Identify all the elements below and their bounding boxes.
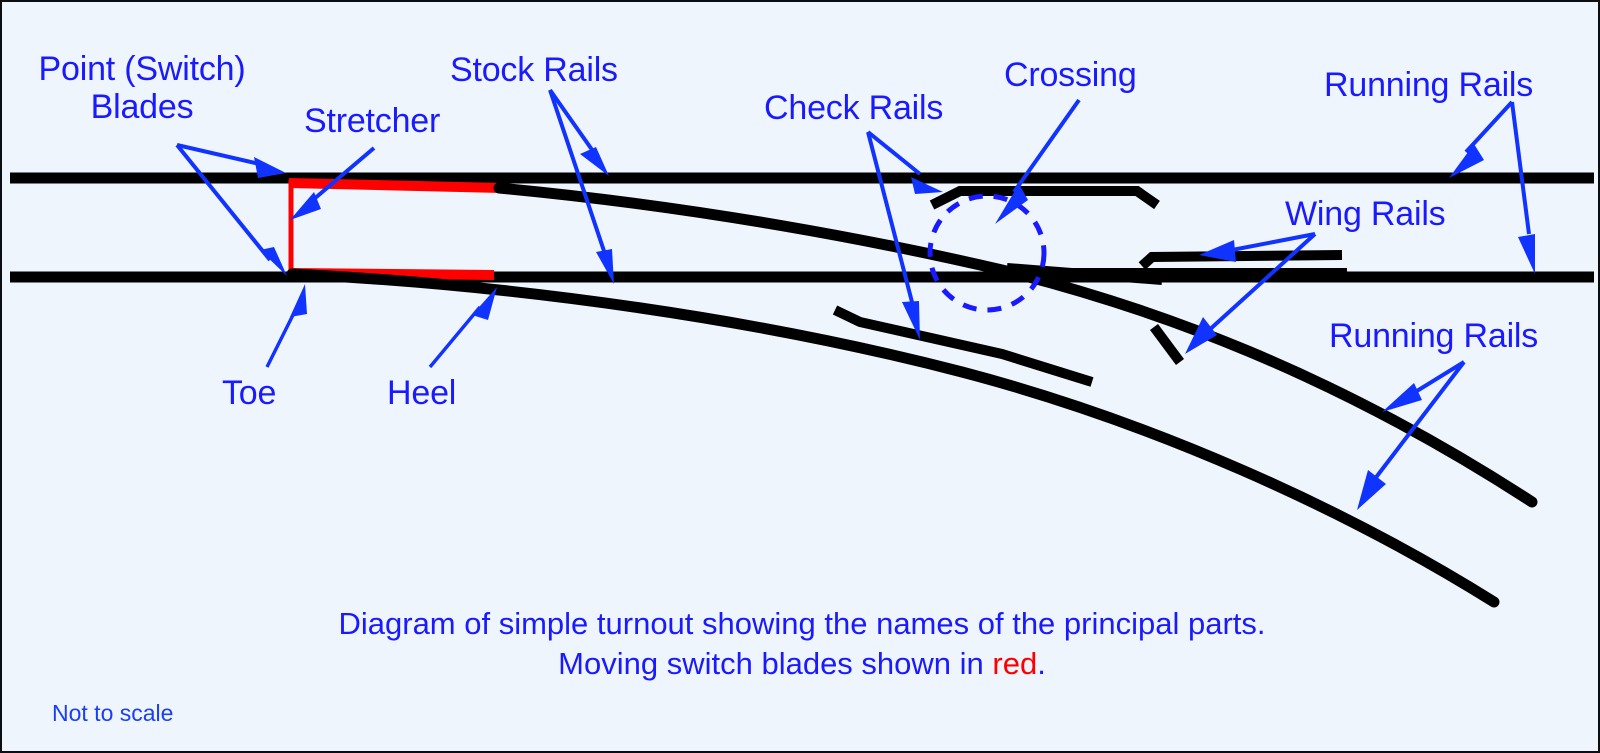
caption-line-2-prefix: Moving switch blades shown in xyxy=(558,646,992,681)
figure-caption: Diagram of simple turnout showing the na… xyxy=(2,604,1600,685)
label-toe: Toe xyxy=(222,374,276,412)
leader-check-rails-upper xyxy=(868,132,943,194)
label-wing-rails: Wing Rails xyxy=(1285,195,1445,233)
label-crossing: Crossing xyxy=(1004,56,1137,94)
leader-heel xyxy=(430,287,497,367)
leader-running-rails-bottom-inner xyxy=(1382,362,1464,412)
leader-running-rails-top-upper xyxy=(1449,102,1512,178)
caption-line-1: Diagram of simple turnout showing the na… xyxy=(2,604,1600,644)
label-running-rails-top: Running Rails xyxy=(1324,66,1533,104)
leader-running-rails-bottom-outer xyxy=(1357,362,1464,510)
leader-crossing xyxy=(995,100,1079,224)
label-point-switch-blades-line2: Blades xyxy=(22,88,262,126)
label-running-rails-bottom: Running Rails xyxy=(1329,317,1538,355)
caption-red-word: red xyxy=(992,646,1037,681)
switch-blade-upper xyxy=(289,183,502,188)
leader-stock-rails-lower xyxy=(550,90,614,284)
wing-rail-lower xyxy=(1154,327,1180,362)
label-stock-rails: Stock Rails xyxy=(450,51,618,89)
leader-running-rails-top-lower xyxy=(1512,102,1535,274)
caption-line-2: Moving switch blades shown in red. xyxy=(2,644,1600,684)
label-point-switch-blades: Point (Switch) Blades xyxy=(22,50,262,126)
leader-point-blades-lower xyxy=(177,145,287,276)
check-rail-upper xyxy=(932,191,1157,205)
diagram-canvas: Point (Switch) Blades Stretcher Stock Ra… xyxy=(0,0,1600,753)
label-check-rails: Check Rails xyxy=(764,89,943,127)
label-stretcher: Stretcher xyxy=(304,102,440,140)
wing-rail-upper xyxy=(1142,255,1342,266)
leader-toe xyxy=(267,284,307,367)
leader-stock-rails-upper xyxy=(550,90,609,176)
caption-line-2-suffix: . xyxy=(1037,646,1046,681)
label-point-switch-blades-line1: Point (Switch) xyxy=(22,50,262,88)
label-heel: Heel xyxy=(387,374,456,412)
rail-diverging-outer xyxy=(292,274,1494,602)
leader-check-rails-lower xyxy=(868,132,920,340)
scale-note: Not to scale xyxy=(52,700,173,727)
